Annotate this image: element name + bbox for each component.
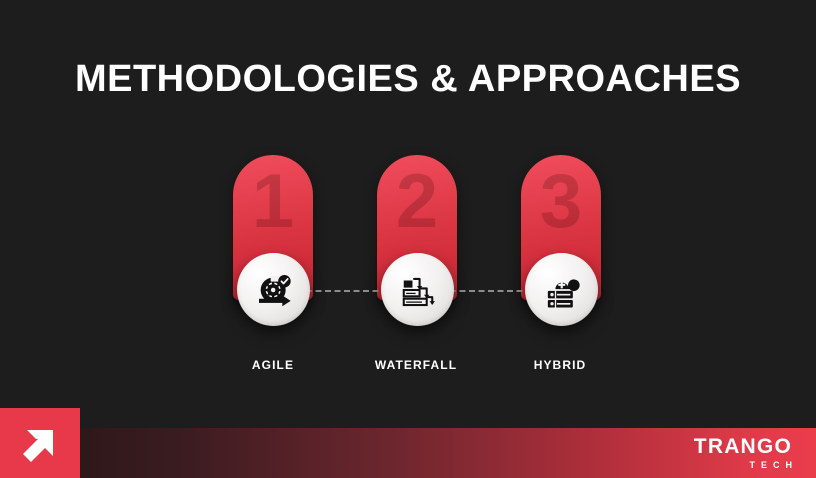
step-icon-badge-agile[interactable]: [237, 253, 310, 326]
step-label-agile: AGILE: [193, 358, 353, 372]
step-icon-badge-waterfall[interactable]: [381, 253, 454, 326]
step-label-hybrid: HYBRID: [480, 358, 640, 372]
slide-canvas: METHODOLOGIES & APPROACHES 1: [0, 0, 816, 478]
connector-line-1-2: [306, 290, 388, 292]
brand-wordmark: TRANGO TECH: [694, 436, 792, 470]
brand-secondary: TECH: [694, 461, 798, 470]
agile-cycle-icon: [254, 270, 294, 310]
step-label-waterfall: WATERFALL: [336, 358, 496, 372]
trango-arrow-logo-icon: [15, 416, 65, 471]
step-card-hybrid[interactable]: 3: [521, 155, 601, 300]
step-card-agile[interactable]: 1: [233, 155, 313, 300]
step-number-2: 2: [377, 159, 457, 245]
step-card-waterfall[interactable]: 2: [377, 155, 457, 300]
brand-primary: TRANGO: [694, 436, 792, 457]
footer-logo[interactable]: [0, 408, 80, 478]
methodology-steps: 1: [0, 0, 816, 478]
waterfall-steps-icon: [399, 271, 437, 309]
step-number-1: 1: [233, 159, 313, 245]
connector-line-2-3: [450, 290, 532, 292]
hybrid-cloud-server-icon: [542, 270, 582, 310]
step-icon-badge-hybrid[interactable]: [525, 253, 598, 326]
step-number-3: 3: [521, 159, 601, 245]
